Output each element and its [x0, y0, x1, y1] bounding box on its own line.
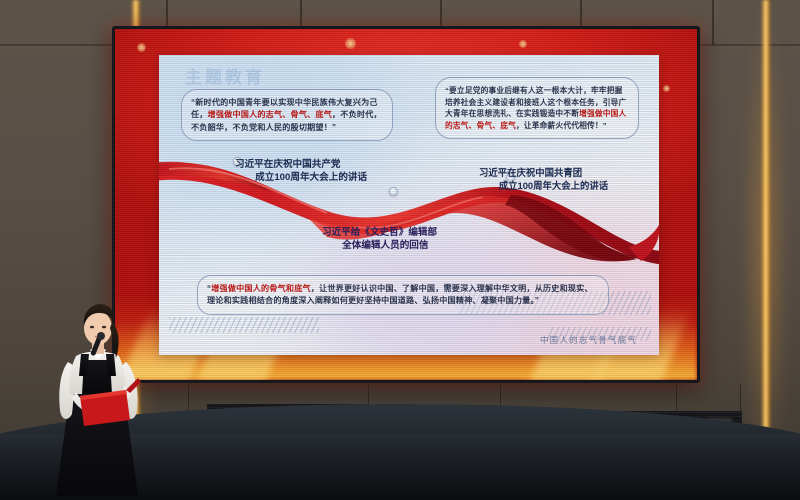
- ribbon-marker-center: [389, 187, 398, 196]
- screen-speck-4: [663, 85, 670, 92]
- caption-center: 习近平给《文史哲》编辑部 全体编辑人员的回信: [322, 227, 437, 253]
- slide-watermark: 主题教育: [185, 63, 265, 88]
- screen-bezel: 主题教育: [112, 26, 700, 383]
- caption-line-1: 习近平给《文史哲》编辑部: [322, 227, 437, 238]
- quote-close-mark: ”: [332, 123, 336, 132]
- caption-line-2: 成立100周年大会上的讲话: [479, 180, 608, 193]
- screenshot-root: 主题教育: [0, 0, 800, 500]
- screen-red-backdrop: 主题教育: [115, 29, 697, 380]
- presentation-slide: 主题教育: [159, 55, 659, 355]
- caption-line-1: 习近平在庆祝中国共青团: [479, 167, 582, 178]
- quote-highlight: 增强做中国人的骨气和底气: [211, 284, 311, 293]
- wall-light-strip-right: [761, 0, 771, 500]
- presenter-ponytail: [110, 322, 119, 358]
- quote-top-right: “要立足党的事业后继有人这一根本大计，牢牢把握培养社会主义建设者和接班人这个根本…: [435, 77, 639, 139]
- screen-speck-1: [137, 43, 146, 52]
- quote-close-mark: ”: [535, 296, 539, 305]
- caption-line-2: 全体编辑人员的回信: [322, 240, 437, 253]
- screen-speck-3: [519, 40, 527, 48]
- led-screen: 主题教育: [112, 26, 700, 383]
- ceiling-seam-5: [712, 0, 714, 45]
- quote-top-left: “新时代的中国青年要以实现中华民族伟大复兴为己任，增强做中国人的志气、骨气、底气…: [181, 89, 393, 141]
- caption-left: 习近平在庆祝中国共产党 成立100周年大会上的讲话: [235, 159, 367, 185]
- caption-line-2: 成立100周年大会上的讲话: [235, 172, 367, 185]
- slide-footer-mark: 中国人的志气骨气底气: [540, 334, 637, 346]
- screen-speck-2: [345, 38, 356, 49]
- caption-right: 习近平在庆祝中国共青团 成立100周年大会上的讲话: [479, 167, 608, 192]
- quote-bottom: “增强做中国人的骨气和底气，让世界更好认识中国、了解中国，需要深入理解中华文明，…: [197, 275, 609, 315]
- quote-highlight: 增强做中国人的志气、骨气、底气: [208, 110, 332, 119]
- presenter: [46, 300, 178, 500]
- caption-line-1: 习近平在庆祝中国共产党: [235, 159, 341, 170]
- slide-hatch-left: [169, 317, 319, 333]
- quote-close-mark: ”: [603, 121, 607, 130]
- quote-text-after: ，让革命薪火代代相传！: [516, 121, 603, 130]
